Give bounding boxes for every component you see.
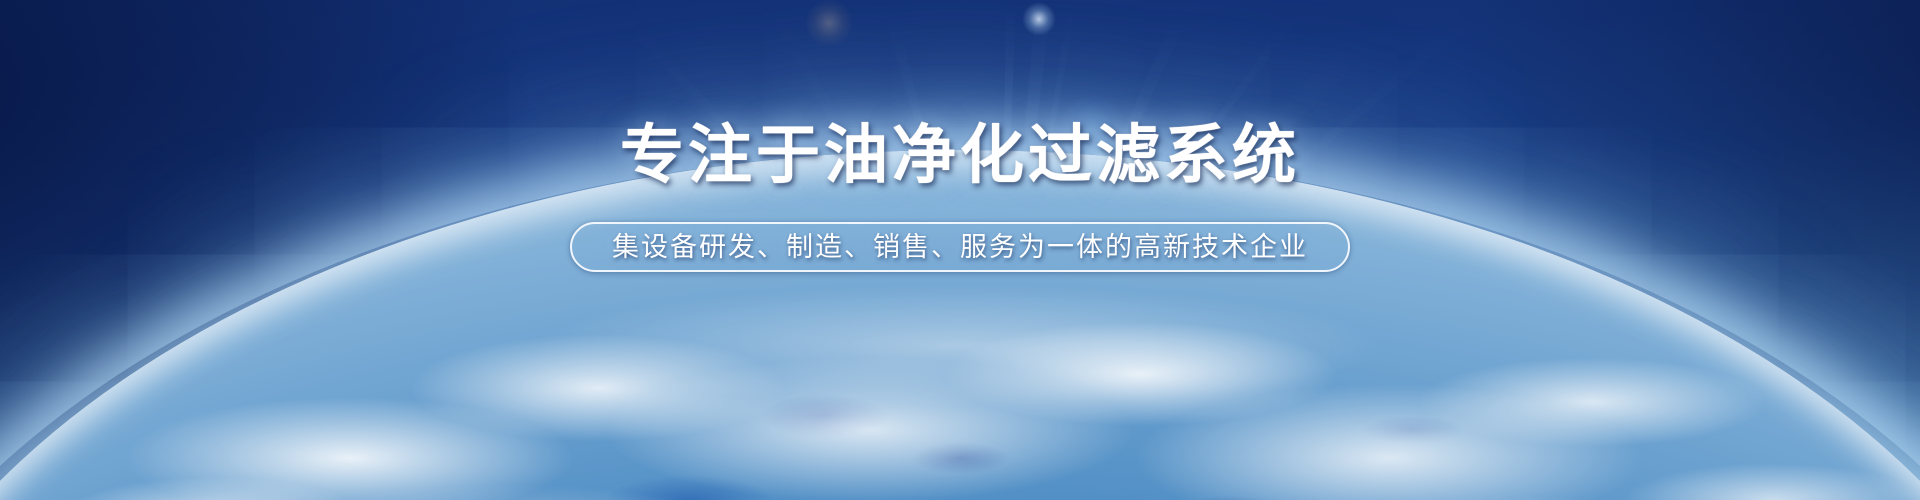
banner-headline: 专注于油净化过滤系统 [620,124,1300,188]
earth-limb-highlight [0,150,1920,500]
banner-subtitle-text: 集设备研发、制造、销售、服务为一体的高新技术企业 [612,234,1308,261]
lens-flare-icon [806,0,852,46]
hero-banner: 专注于油净化过滤系统 集设备研发、制造、销售、服务为一体的高新技术企业 [0,0,1920,500]
earth-cloud-layer [0,150,1920,500]
earth-globe-icon [0,150,1920,500]
banner-content: 专注于油净化过滤系统 集设备研发、制造、销售、服务为一体的高新技术企业 [0,0,1920,500]
lens-flare-icon [1022,2,1056,36]
earth-atmosphere-halo [0,150,1920,500]
earth-ocean-layer [0,150,1920,500]
banner-subtitle-box: 集设备研发、制造、销售、服务为一体的高新技术企业 [570,222,1350,272]
